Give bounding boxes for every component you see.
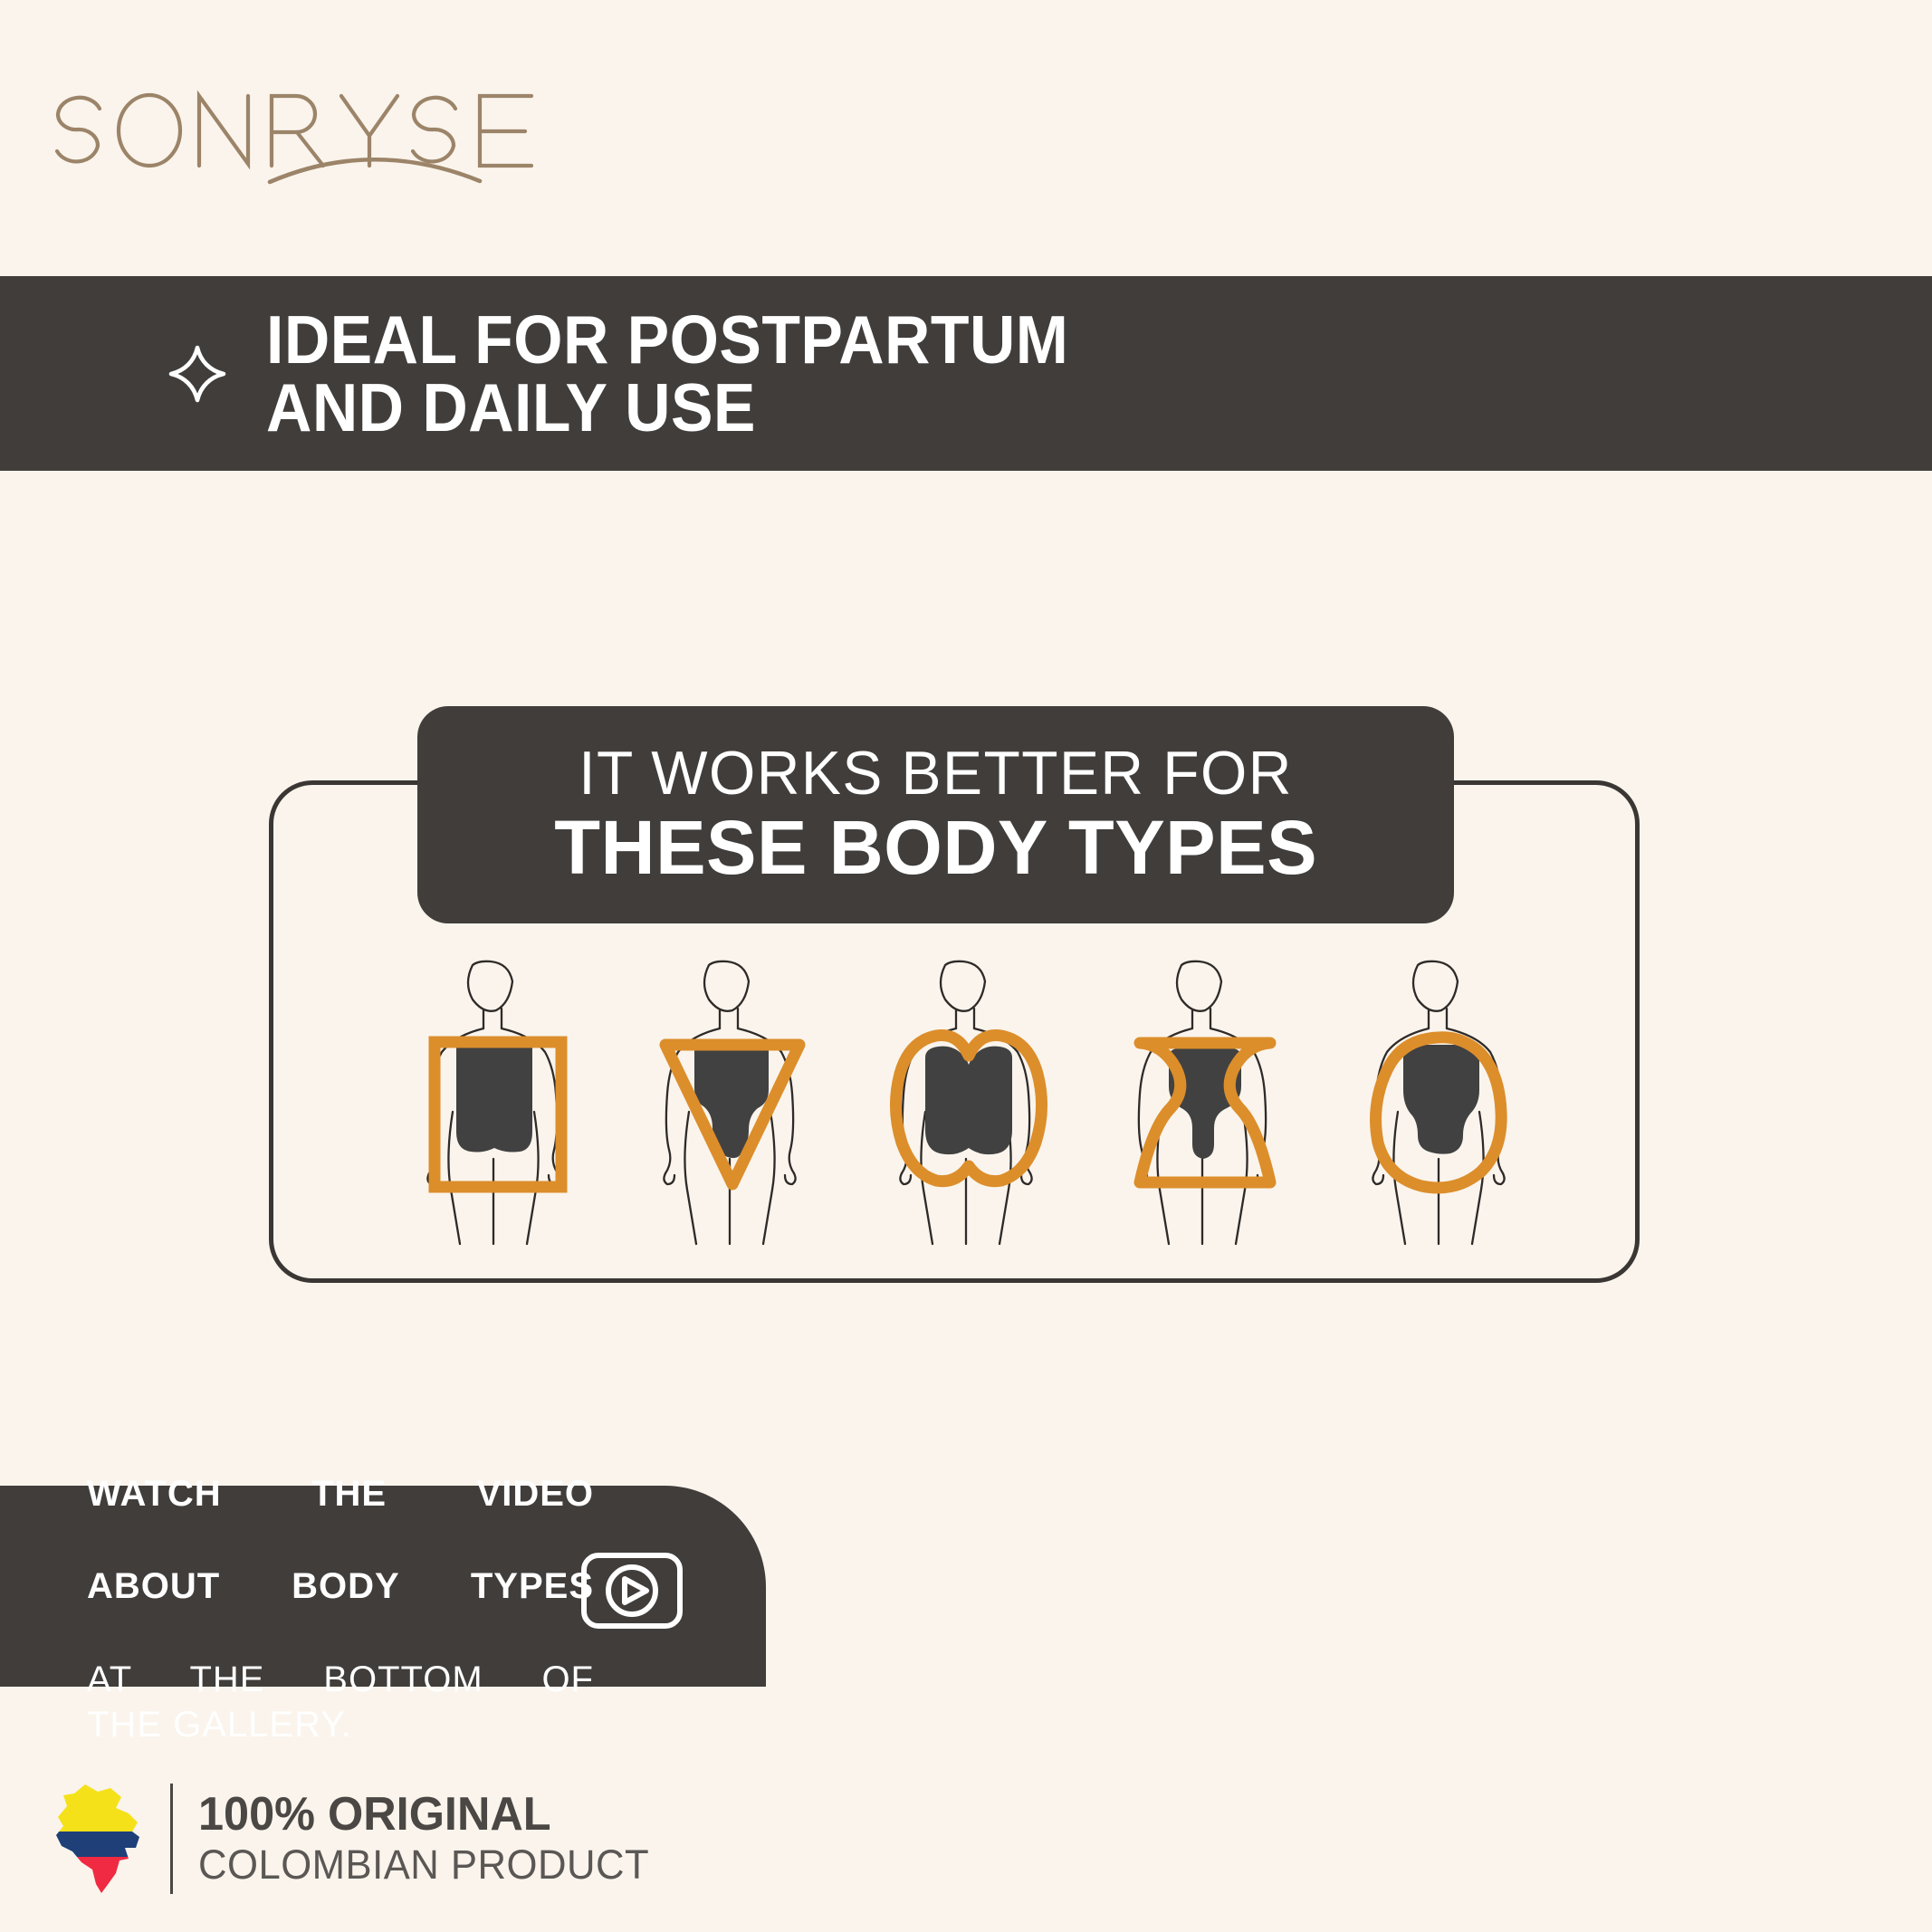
- headline-line-1: IT WORKS BETTER FOR: [579, 742, 1293, 805]
- brand-logo: [47, 80, 554, 188]
- body-type-figures: [389, 958, 1548, 1248]
- body-type-pear: [1334, 958, 1548, 1248]
- body-type-rectangle: [389, 958, 603, 1248]
- badge-divider: [170, 1784, 173, 1894]
- badge-line-1: 100% ORIGINAL: [198, 1790, 649, 1840]
- sparkle-icon: [168, 345, 226, 403]
- video-cta-bold-line-1: WATCH THE VIDEO: [87, 1471, 594, 1517]
- video-cta-bold: WATCH THE VIDEO ABOUT BODY TYPES: [87, 1424, 594, 1656]
- video-cta-text: WATCH THE VIDEO ABOUT BODY TYPES AT THE …: [87, 1424, 594, 1747]
- colombia-map-icon: [51, 1783, 148, 1895]
- banner-title: IDEAL FOR POSTPARTUM AND DAILY USE: [266, 306, 1068, 442]
- headline-pill: IT WORKS BETTER FOR THESE BODY TYPES: [417, 706, 1454, 923]
- badge-text: 100% ORIGINAL COLOMBIAN PRODUCT: [198, 1790, 664, 1887]
- watch-video-panel[interactable]: WATCH THE VIDEO ABOUT BODY TYPES AT THE …: [0, 1486, 766, 1687]
- body-type-inverted-triangle: [626, 958, 839, 1248]
- body-type-hourglass: [1098, 958, 1312, 1248]
- poster-canvas: IDEAL FOR POSTPARTUM AND DAILY USE IT WO…: [0, 0, 1932, 1932]
- play-video-icon[interactable]: [579, 1551, 684, 1631]
- video-cta-bold-line-2: ABOUT BODY TYPES: [87, 1564, 594, 1610]
- original-product-badge: 100% ORIGINAL COLOMBIAN PRODUCT: [51, 1780, 664, 1898]
- body-type-apple: [862, 958, 1076, 1248]
- video-cta-light-line-1: AT THE BOTTOM OF: [87, 1658, 594, 1703]
- video-cta-light: AT THE BOTTOM OF THE GALLERY.: [87, 1658, 594, 1747]
- video-cta-light-line-2: THE GALLERY.: [87, 1703, 594, 1748]
- headline-line-2: THESE BODY TYPES: [554, 808, 1317, 887]
- top-banner: IDEAL FOR POSTPARTUM AND DAILY USE: [0, 276, 1932, 471]
- badge-line-2: COLOMBIAN PRODUCT: [198, 1843, 649, 1888]
